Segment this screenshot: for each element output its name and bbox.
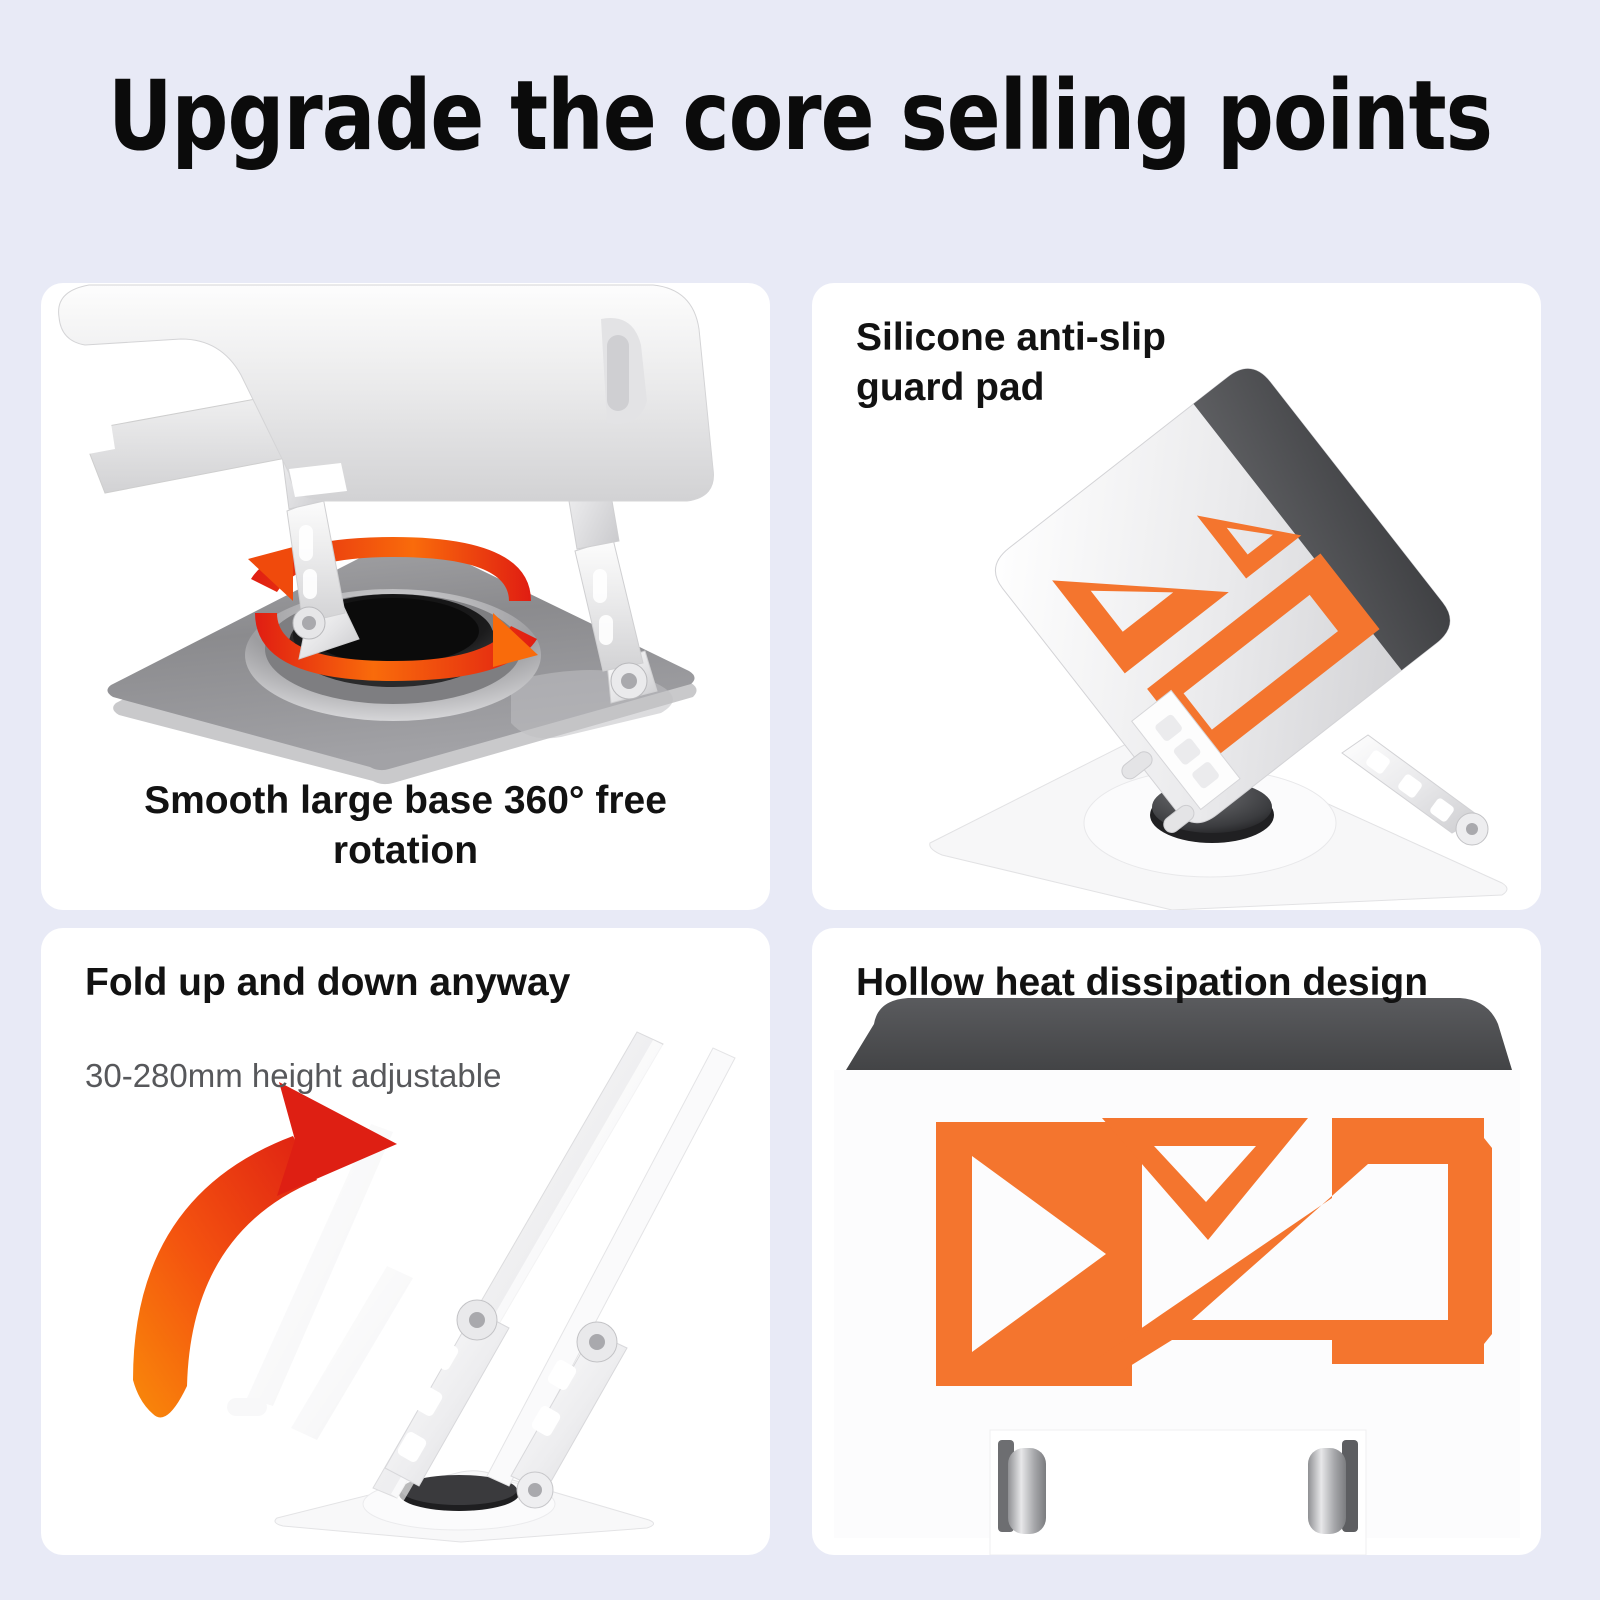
heat-dissipation-illustration: [812, 928, 1541, 1555]
infographic-page: Upgrade the core selling points: [0, 0, 1600, 1600]
feature-grid: Smooth large base 360° free rotation: [41, 283, 1559, 1555]
feature-card-fold[interactable]: Fold up and down anyway 30-280mm height …: [41, 928, 770, 1555]
feature-card-heat-dissipation[interactable]: Hollow heat dissipation design: [812, 928, 1541, 1555]
feature-card-silicone-pad[interactable]: Silicone anti-slip guard pad: [812, 283, 1541, 910]
caption-silicone-pad: Silicone anti-slip guard pad: [856, 313, 1276, 413]
subcaption-fold-height: 30-280mm height adjustable: [85, 1056, 501, 1096]
page-title: Upgrade the core selling points: [64, 64, 1536, 168]
folding-illustration: [41, 928, 770, 1555]
caption-fold: Fold up and down anyway: [85, 958, 570, 1008]
caption-rotation: Smooth large base 360° free rotation: [71, 776, 740, 876]
base-plate: [275, 1471, 654, 1542]
caption-heat-dissipation: Hollow heat dissipation design: [856, 958, 1428, 1008]
slotted-leg-front: [385, 1300, 509, 1486]
hinge-left: [998, 1440, 1046, 1534]
hinge-right: [1308, 1440, 1358, 1534]
feature-card-rotation[interactable]: Smooth large base 360° free rotation: [41, 283, 770, 910]
